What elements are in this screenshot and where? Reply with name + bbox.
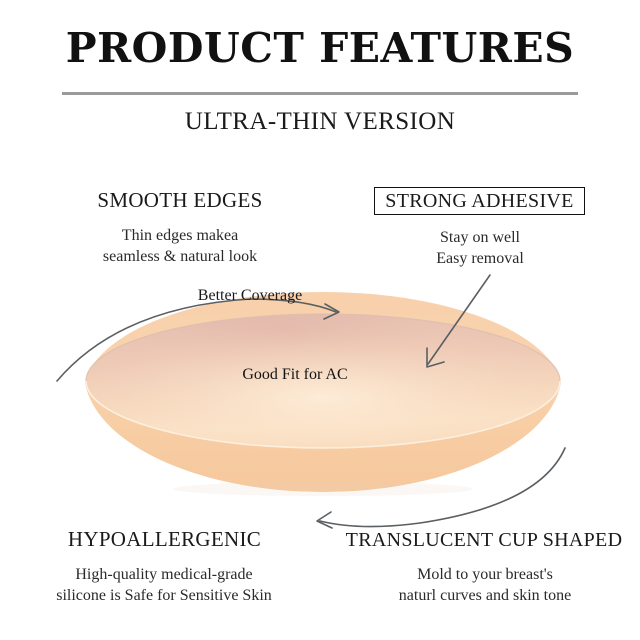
feature-body-smooth-edges: Thin edges makea seamless & natural look: [35, 225, 325, 267]
header-divider: [62, 92, 578, 95]
product-features-infographic: PRODUCT FEATURES ULTRA-THIN VERSION: [0, 0, 640, 640]
feature-body-translucent-cup: Mold to your breast's naturl curves and …: [332, 564, 638, 606]
feature-body-line: Stay on well: [370, 227, 590, 248]
translucent-cup-arrow: [317, 448, 565, 528]
feature-heading-translucent-cup: TRANSLUCENT CUP SHAPED: [330, 529, 638, 552]
feature-body-line: seamless & natural look: [35, 246, 325, 267]
feature-body-line: Easy removal: [370, 248, 590, 269]
better-coverage-label: Better Coverage: [150, 287, 350, 305]
feature-body-line: Thin edges makea: [35, 225, 325, 246]
feature-body-line: High-quality medical-grade: [8, 564, 320, 585]
feature-heading-smooth-edges: SMOOTH EDGES: [35, 188, 325, 213]
feature-body-strong-adhesive: Stay on well Easy removal: [370, 227, 590, 269]
feature-heading-strong-adhesive: STRONG ADHESIVE: [374, 190, 585, 213]
feature-body-line: Mold to your breast's: [332, 564, 638, 585]
feature-heading-hypoallergenic: HYPOALLERGENIC: [12, 527, 317, 552]
feature-body-line: silicone is Safe for Sensitive Skin: [8, 585, 320, 606]
feature-body-hypoallergenic: High-quality medical-grade silicone is S…: [8, 564, 320, 606]
page-title: PRODUCT FEATURES: [0, 24, 640, 72]
good-fit-label: Good Fit for AC: [200, 366, 390, 384]
strong-adhesive-arrow: [427, 275, 490, 367]
feature-body-line: naturl curves and skin tone: [332, 585, 638, 606]
page-subtitle: ULTRA-THIN VERSION: [0, 108, 640, 136]
